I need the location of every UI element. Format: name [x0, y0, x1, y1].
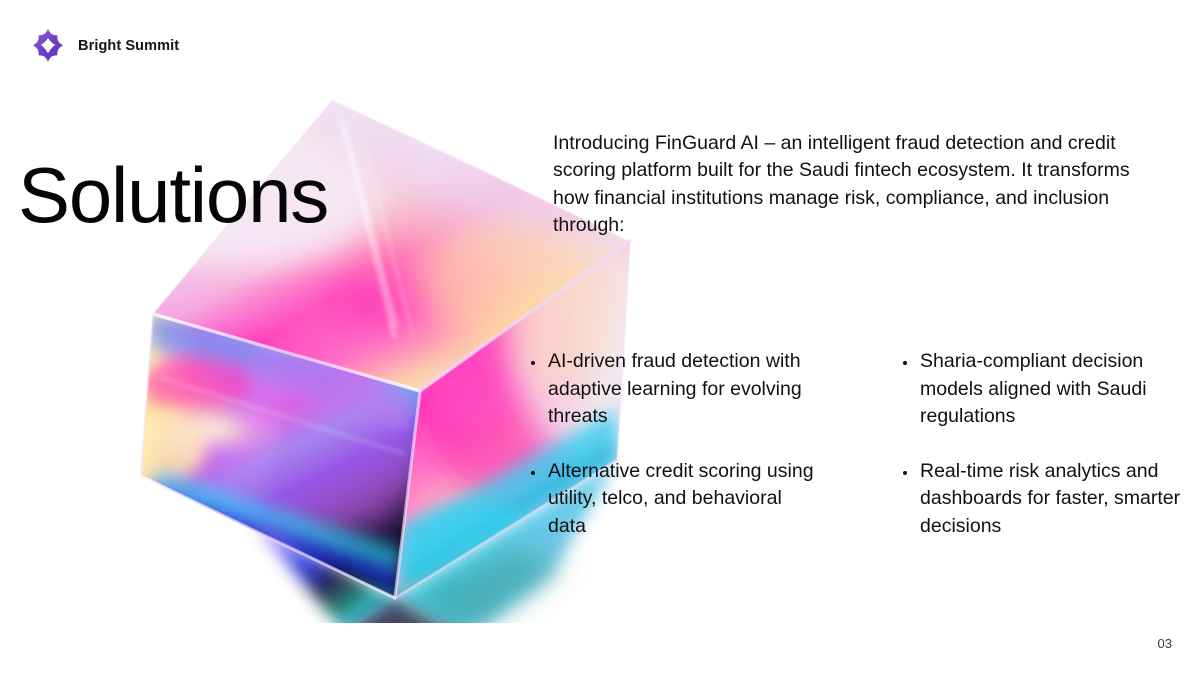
six-point-star-icon [30, 28, 66, 64]
bullet-list-right: Sharia-compliant decision models aligned… [896, 348, 1196, 540]
list-item: AI-driven fraud detection with adaptive … [546, 348, 814, 431]
page-title: Solutions [18, 156, 328, 234]
brand-logo-group: Bright Summit [30, 28, 179, 64]
bullet-column-right: Sharia-compliant decision models aligned… [896, 348, 1196, 540]
bullet-list-left: AI-driven fraud detection with adaptive … [524, 348, 814, 540]
bullet-column-left: AI-driven fraud detection with adaptive … [524, 348, 814, 540]
list-item: Real-time risk analytics and dashboards … [918, 458, 1196, 541]
slide-canvas: Bright Summit [0, 0, 1200, 675]
list-item: Sharia-compliant decision models aligned… [918, 348, 1196, 431]
intro-paragraph: Introducing FinGuard AI – an intelligent… [553, 130, 1133, 240]
list-item: Alternative credit scoring using utility… [546, 458, 814, 541]
page-number-label: 03 [1158, 636, 1172, 651]
brand-name-label: Bright Summit [78, 38, 179, 54]
